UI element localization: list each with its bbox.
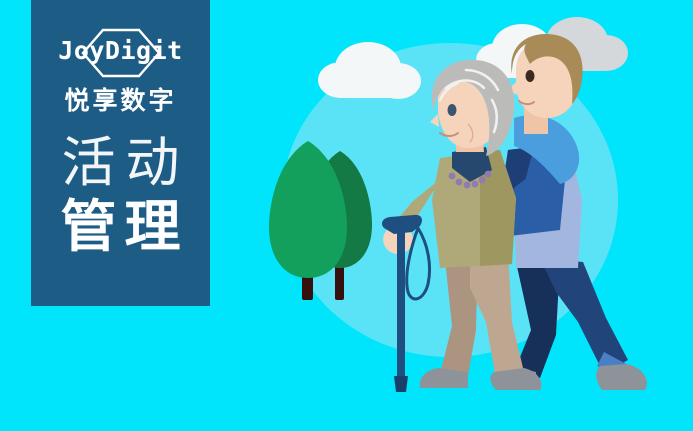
headline-block: 活动 管理	[31, 131, 210, 261]
logo-wordmark: JoyDigit	[45, 36, 197, 66]
headline-line-1: 活动	[31, 131, 210, 195]
logo-mark: JoyDigit	[45, 27, 197, 79]
title-panel: JoyDigit 悦享数字 活动 管理	[31, 0, 210, 306]
headline-line-2: 管理	[31, 193, 210, 261]
man-front-shoe	[596, 364, 646, 390]
cane-shaft	[397, 230, 405, 388]
man-eye	[526, 70, 535, 82]
woman-eye	[448, 104, 457, 116]
cane-tip	[394, 376, 408, 392]
poster-canvas: JoyDigit 悦享数字 活动 管理	[0, 0, 693, 431]
brand-chinese-name: 悦享数字	[31, 86, 210, 116]
brand-block: JoyDigit 悦享数字	[31, 27, 210, 116]
